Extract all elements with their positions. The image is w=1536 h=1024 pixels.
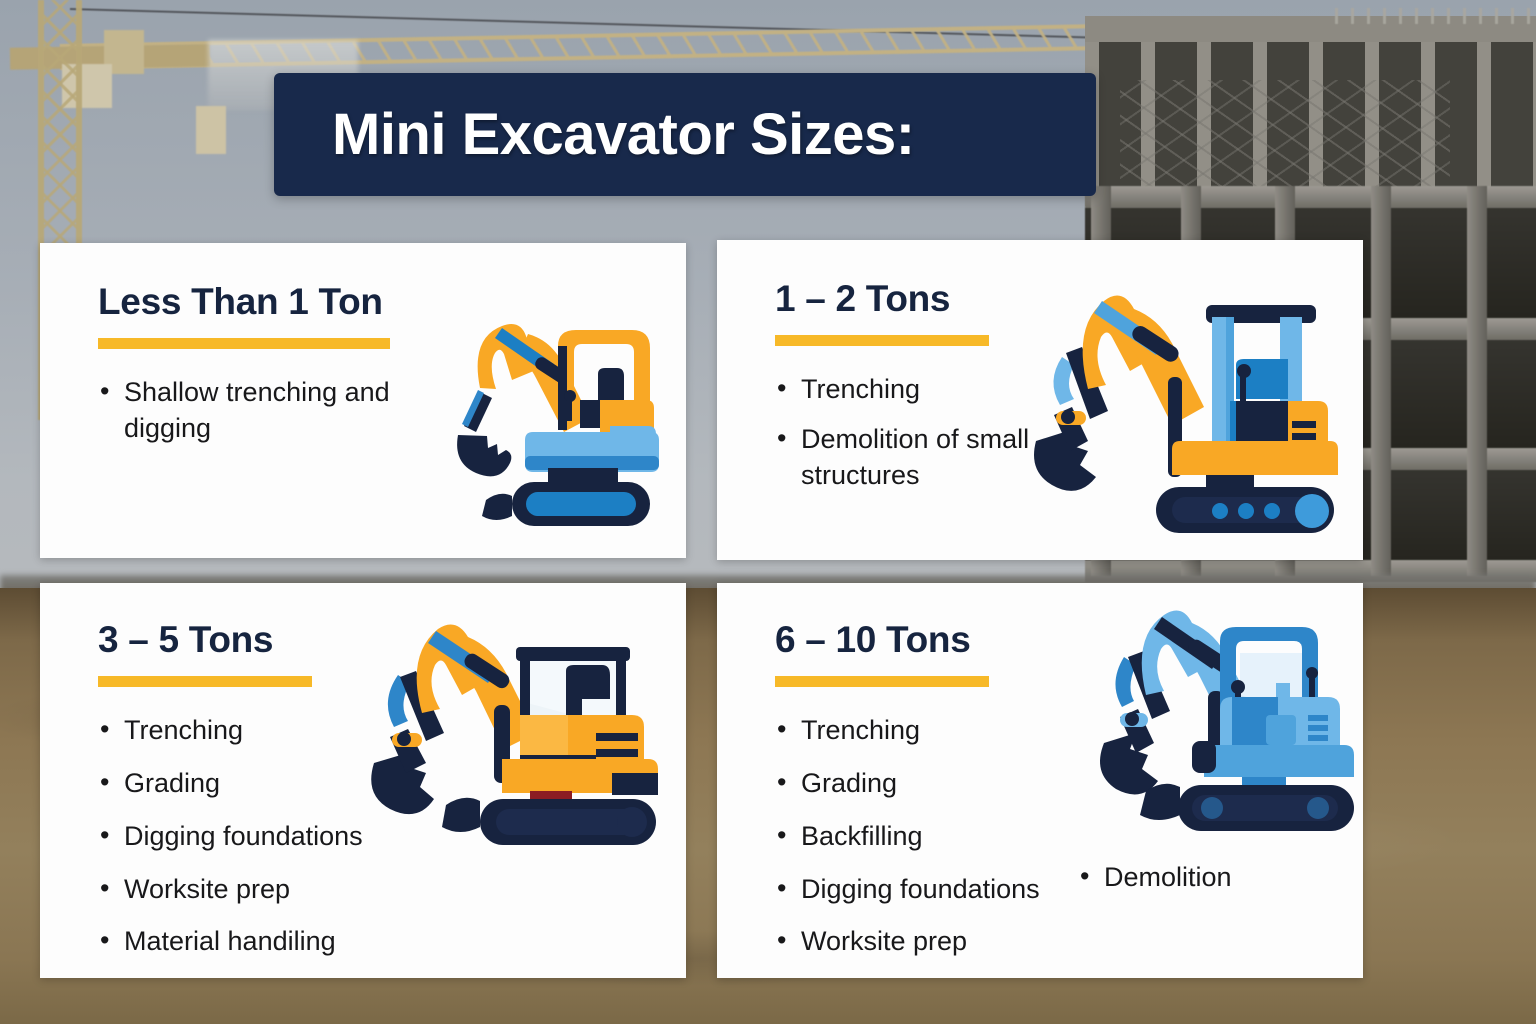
accent-bar xyxy=(775,676,989,687)
accent-bar xyxy=(775,335,989,346)
title-banner: Mini Excavator Sizes: xyxy=(274,73,1096,196)
accent-bar xyxy=(98,676,312,687)
excavator-illustration-4 xyxy=(1080,595,1370,845)
card-content: Less Than 1 Ton Shallow trenching and di… xyxy=(40,243,470,461)
crane-hoist-icon xyxy=(196,106,226,154)
excavator-illustration-3 xyxy=(360,605,670,850)
excavator-illustration-1 xyxy=(440,300,690,535)
accent-bar xyxy=(98,338,390,349)
list-item: Worksite prep xyxy=(775,924,1147,960)
list-item: Shallow trenching and digging xyxy=(98,375,458,447)
card-bullet-list: Shallow trenching and digging xyxy=(98,375,470,447)
list-item-demolition: Demolition xyxy=(1078,860,1232,896)
list-item: Material handiling xyxy=(98,924,470,960)
excavator-illustration-2 xyxy=(1030,265,1350,540)
list-item: Worksite prep xyxy=(98,872,470,908)
page-title: Mini Excavator Sizes: xyxy=(274,106,915,164)
card-title: Less Than 1 Ton xyxy=(98,283,470,322)
